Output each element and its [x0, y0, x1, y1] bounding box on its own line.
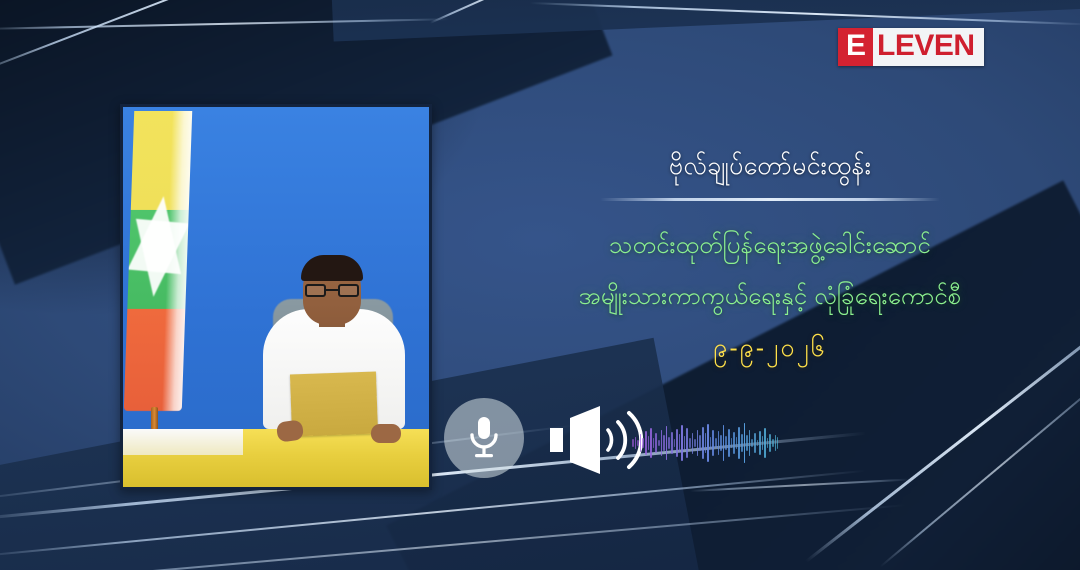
- waveform-bar: [668, 437, 670, 450]
- waveform-bar: [681, 425, 683, 462]
- waveform-bar: [697, 430, 699, 455]
- waveform-bar: [731, 438, 733, 449]
- eleven-logo: E LEVEN: [838, 28, 984, 66]
- waveform-bar: [689, 438, 691, 448]
- presenter-glasses: [305, 284, 359, 297]
- waveform-bar: [746, 435, 748, 451]
- waveform-bar: [653, 438, 655, 449]
- waveform-bar: [733, 432, 735, 454]
- waveform-bar: [767, 438, 769, 448]
- waveform-bar: [640, 434, 642, 452]
- waveform-bar: [741, 434, 743, 452]
- waveform-bar: [757, 440, 759, 447]
- presenter-hair: [301, 255, 363, 281]
- speaker-role-line: သတင်းထုတ်ပြန်ရေးအဖွဲ့ခေါင်းဆောင်: [470, 229, 1070, 263]
- waveform-bar: [738, 427, 740, 458]
- waveform-bar: [679, 434, 681, 452]
- desk-left-surface: [123, 429, 243, 455]
- waveform-bar: [769, 434, 771, 452]
- waveform-bar: [736, 437, 738, 450]
- waveform-bar: [686, 428, 688, 458]
- waveform-bar: [764, 428, 766, 457]
- presenter-document: [290, 372, 378, 437]
- microphone-button[interactable]: [444, 398, 524, 478]
- waveform-bar: [658, 440, 660, 447]
- broadcast-stage: E LEVEN ဗိုလ်ချုပ်တော်မင်းထွန်း သတင်: [0, 0, 1080, 570]
- waveform-bar: [715, 438, 717, 447]
- waveform-bar: [772, 439, 774, 447]
- waveform-bar: [650, 428, 652, 457]
- waveform-bar: [723, 425, 725, 460]
- waveform-bar: [692, 433, 694, 454]
- waveform-bar: [642, 438, 644, 447]
- waveform-bar: [775, 435, 777, 450]
- waveform-bar: [749, 430, 751, 456]
- waveform-bar: [637, 440, 639, 445]
- glasses-lens-right: [338, 284, 359, 297]
- waveform-bar: [759, 431, 761, 455]
- waveform-bar: [635, 437, 637, 450]
- waveform-bar: [725, 436, 727, 449]
- waveform-bar: [663, 435, 665, 451]
- eleven-logo-mark: E: [838, 28, 873, 66]
- speaker-caption-block: ဗိုလ်ချုပ်တော်မင်းထွန်း သတင်းထုတ်ပြန်ရေး…: [470, 150, 1070, 364]
- waveform-bar: [632, 439, 634, 447]
- waveform-bar: [655, 433, 657, 453]
- waveform-bar: [707, 424, 709, 463]
- waveform-bar: [712, 430, 714, 457]
- broadcast-date: ၉-၉-၂၀၂၆: [470, 332, 1070, 365]
- waveform-bar: [728, 429, 730, 458]
- waveform-bar: [718, 431, 720, 455]
- waveform-bar: [674, 439, 676, 447]
- audio-waveform: [632, 420, 778, 466]
- waveform-bar: [699, 435, 701, 450]
- waveform-bar: [676, 429, 678, 457]
- myanmar-flag: [124, 111, 192, 411]
- waveform-bar: [694, 439, 696, 447]
- speaker-name-divider: [600, 198, 940, 201]
- waveform-bar: [645, 431, 647, 455]
- waveform-bar: [671, 432, 673, 455]
- eleven-logo-word: LEVEN: [873, 28, 984, 66]
- waveform-bar: [661, 430, 663, 456]
- waveform-bar: [744, 423, 746, 463]
- waveform-bar: [710, 437, 712, 449]
- waveform-bar: [666, 426, 668, 460]
- waveform-bar: [762, 436, 764, 450]
- speaker-organisation-line: အမျိုးသားကာကွယ်ရေးနှင့် လုံခြုံရေးကောင်စ…: [470, 280, 1070, 314]
- speaker-name: ဗိုလ်ချုပ်တော်မင်းထွန်း: [470, 150, 1070, 184]
- microphone-icon: [464, 413, 504, 463]
- presenter-hand-right: [371, 424, 401, 443]
- waveform-bar: [684, 436, 686, 450]
- broadcast-video-frame[interactable]: [120, 104, 432, 490]
- waveform-bar: [705, 433, 707, 452]
- glasses-lens-left: [305, 284, 326, 297]
- waveform-bar: [648, 436, 650, 450]
- waveform-bar: [720, 435, 722, 452]
- waveform-bar: [751, 439, 753, 447]
- waveform-bar: [702, 427, 704, 459]
- waveform-bar: [754, 433, 756, 453]
- waveform-bar: [777, 437, 778, 449]
- glasses-bridge: [326, 289, 338, 291]
